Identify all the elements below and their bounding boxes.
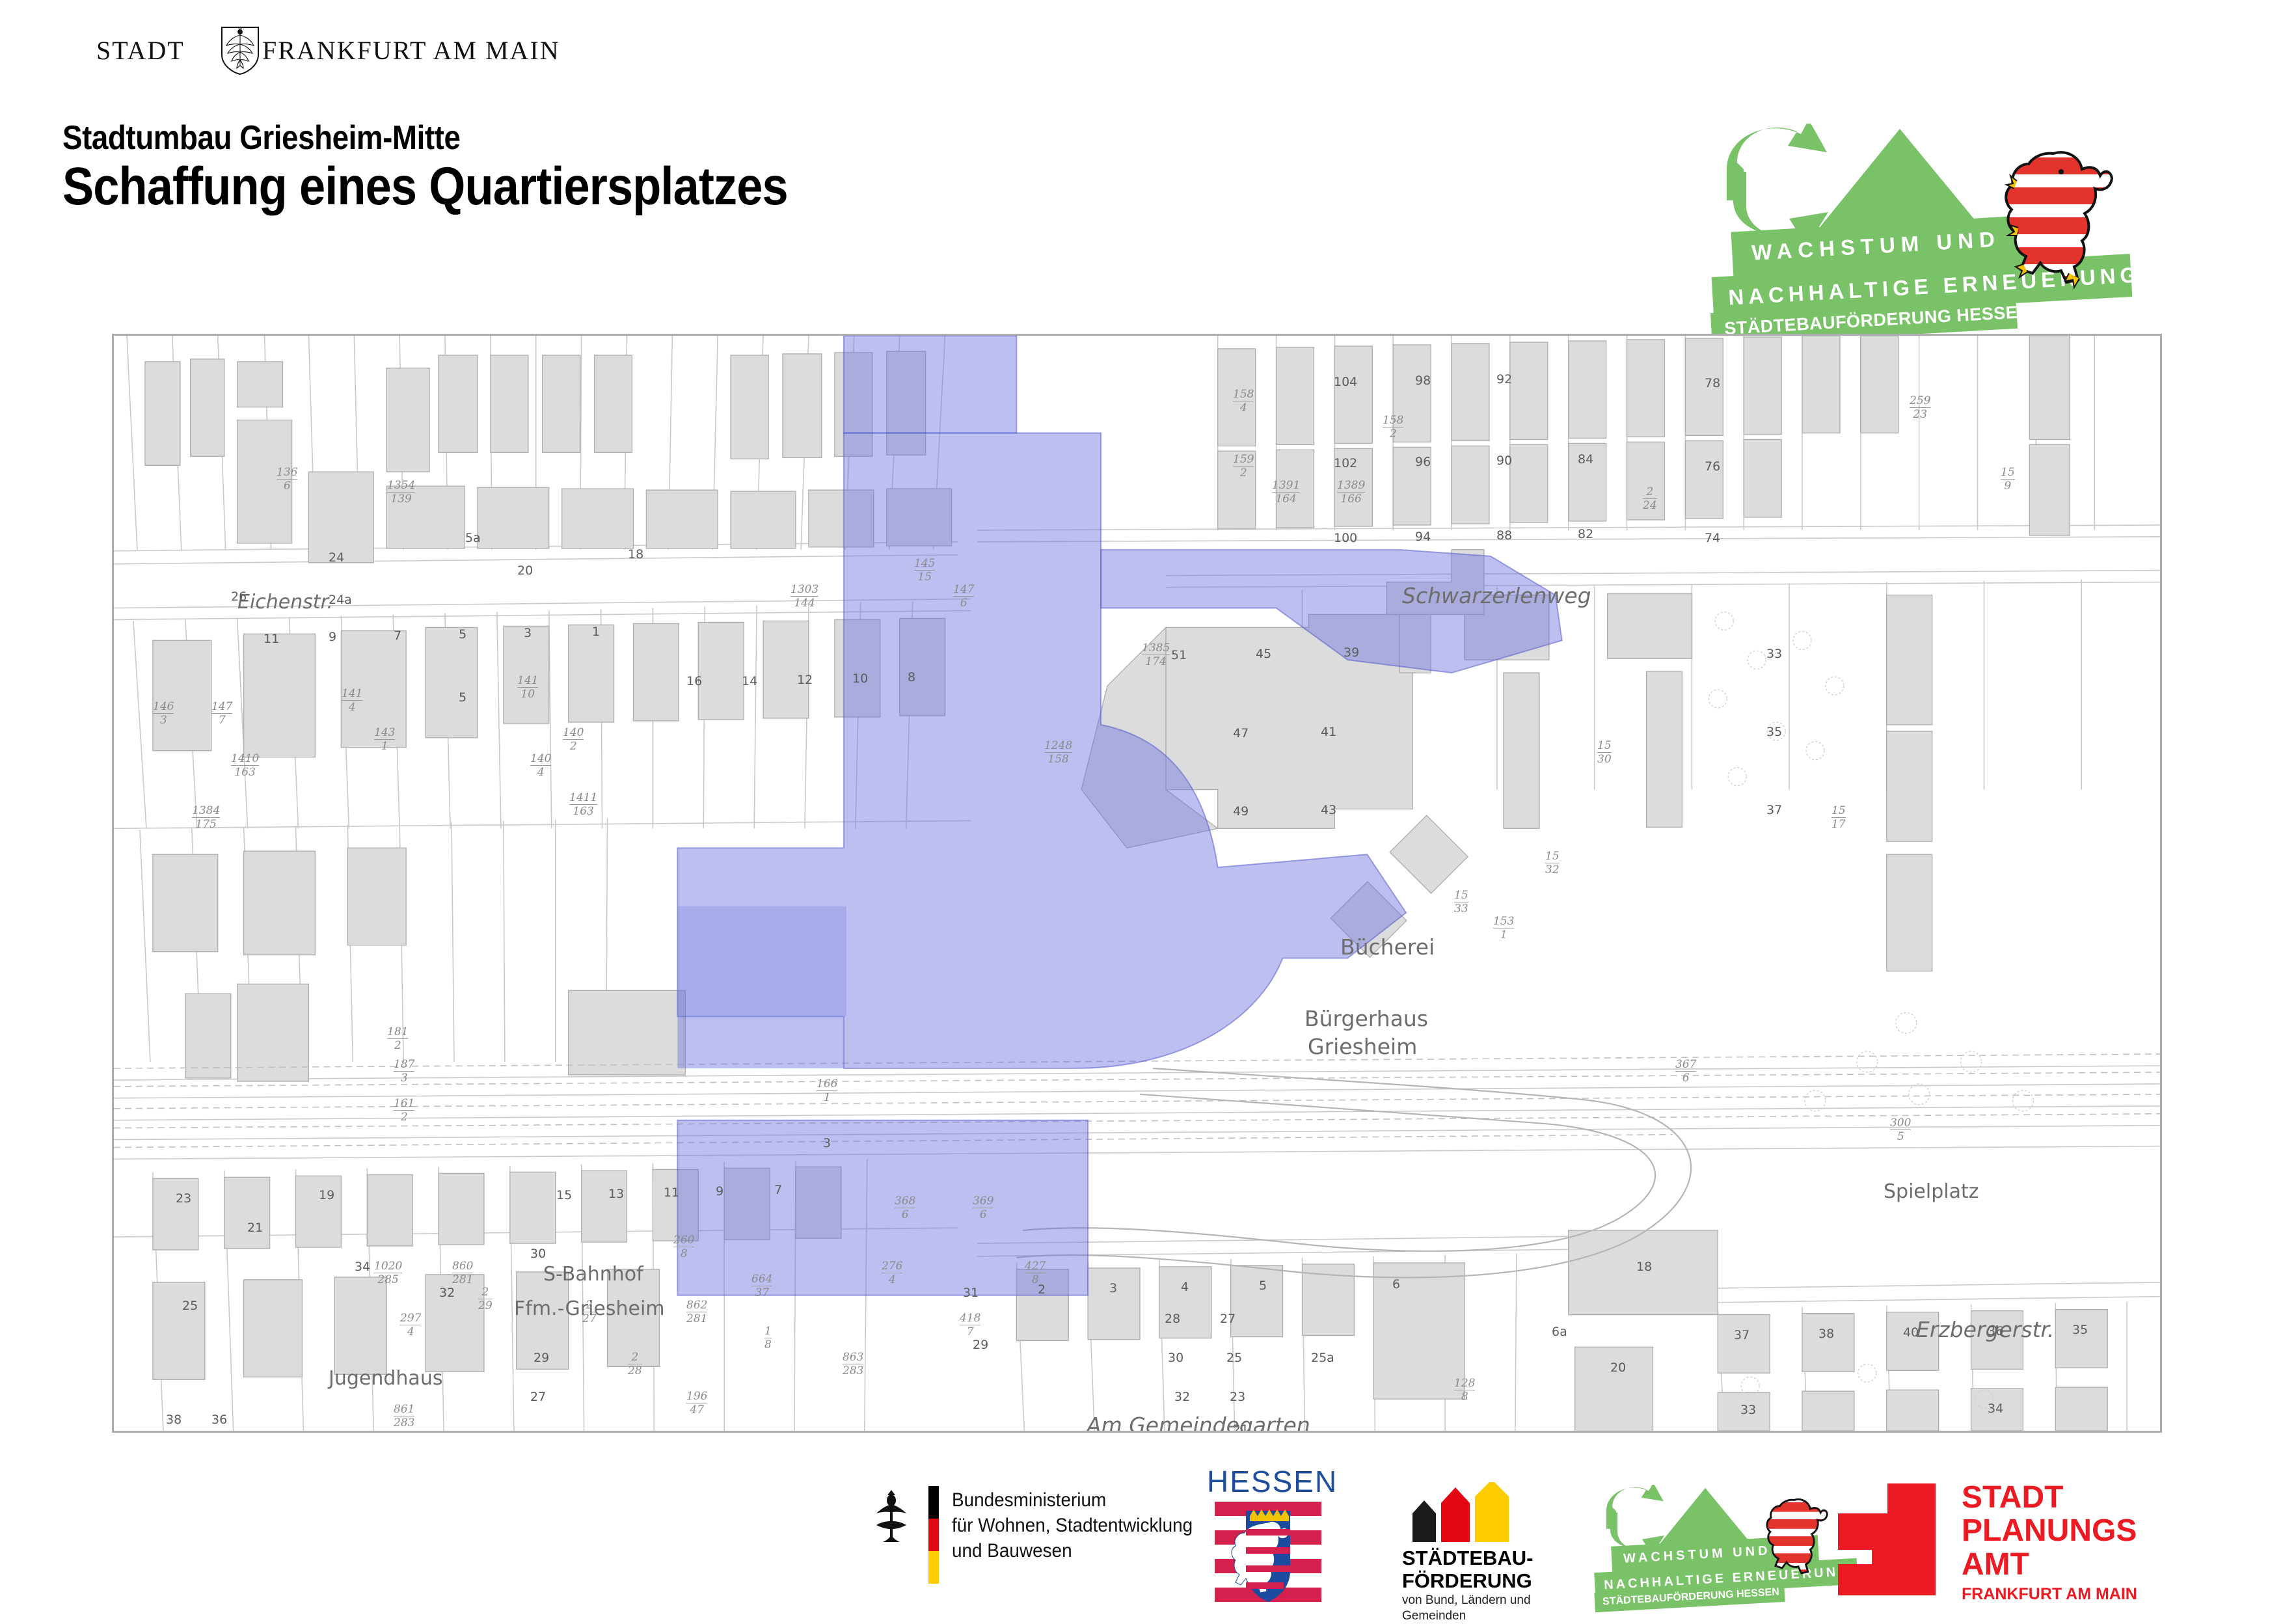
house-number: 49: [1233, 804, 1249, 819]
parcel-number: 1812: [387, 1025, 408, 1052]
parcel-number: 1531: [1493, 915, 1514, 941]
stf-sub2: Gemeinden: [1402, 1608, 1531, 1624]
house-number: 5a: [465, 531, 481, 545]
house-number: 74: [1705, 531, 1720, 545]
hessen-coat-of-arms-icon: [1209, 1499, 1327, 1608]
stf-line2: FÖRDERUNG: [1402, 1570, 1533, 1593]
hessen-lion-icon: [1993, 146, 2117, 295]
house-number: 16: [686, 674, 702, 688]
parcel-number: 1385174: [1142, 642, 1170, 668]
parcel-number: 1020285: [374, 1260, 402, 1286]
house-number: 21: [1233, 1422, 1249, 1433]
house-number: 20: [517, 563, 533, 578]
spa-line2: PLANUNGS: [1962, 1514, 2137, 1547]
house-number: 1: [592, 625, 600, 639]
house-number: 14: [742, 674, 757, 688]
place-label-jugendhaus: Jugendhaus: [329, 1367, 442, 1390]
house-number: 24: [329, 550, 344, 565]
parcel-number: 25923: [1910, 394, 1930, 421]
house-number: 31: [963, 1286, 979, 1300]
street-label-erzbergerstr: Erzbergerstr.: [1916, 1317, 2055, 1342]
parcel-number: 1414: [342, 687, 362, 714]
house-number: 33: [1740, 1403, 1756, 1417]
place-label-griesheim: Griesheim: [1308, 1034, 1417, 1059]
city-of-frankfurt-logo: STADT FRANKFURT AM MAIN: [96, 31, 513, 77]
house-number: 25: [182, 1299, 198, 1313]
stf-title: STÄDTEBAU- FÖRDERUNG: [1402, 1547, 1533, 1592]
stadtplanungsamt-mark-icon: [1838, 1483, 1936, 1595]
frankfurt-eagle-crest-icon: [220, 26, 260, 75]
street-label-eichenstr: Eichenstr.: [237, 591, 333, 614]
house-number: 34: [1207, 1429, 1223, 1433]
parcel-number: 1410163: [231, 752, 259, 779]
parcel-number: 3686: [895, 1195, 915, 1221]
house-number: 3: [524, 626, 532, 640]
parcel-number: 1530: [1597, 739, 1612, 766]
parcel-number: 1402: [563, 726, 584, 753]
house-number: 35: [2072, 1323, 2088, 1337]
parcel-number: 1404: [530, 752, 551, 779]
parcel-number: 14110: [517, 674, 538, 701]
parcel-number: 3696: [973, 1195, 993, 1221]
house-number: 100: [1334, 531, 1357, 545]
house-number: 9: [716, 1184, 723, 1198]
parcel-number: 1431: [374, 726, 395, 753]
house-number: 92: [1496, 372, 1512, 386]
place-label-buergerhaus: Bürgerhaus: [1304, 1006, 1428, 1031]
house-number: 5: [1259, 1279, 1267, 1293]
house-number: 20: [1610, 1360, 1626, 1375]
house-number: 18: [1636, 1260, 1652, 1274]
house-number: 33: [1766, 647, 1782, 661]
bmwsb-line1: Bundesministerium: [952, 1487, 1193, 1513]
parcel-number: 1532: [1545, 850, 1560, 876]
spa-line3: AMT: [1962, 1548, 2137, 1581]
house-number: 36: [211, 1413, 227, 1427]
house-number: 43: [1321, 803, 1336, 817]
cadastral-map[interactable]: Eichenstr. Schwarzerlenweg Erzbergerstr.…: [112, 334, 2162, 1433]
parcel-number: 14515: [914, 557, 935, 584]
house-number: 88: [1496, 528, 1512, 543]
place-label-spielplatz: Spielplatz: [1884, 1180, 1979, 1203]
house-number: 28: [1165, 1312, 1180, 1326]
parcel-number: 1384175: [192, 804, 220, 831]
city-logo-left-text: STADT: [96, 35, 185, 66]
house-number: 23: [1230, 1390, 1245, 1404]
german-flag-bar-icon: [928, 1486, 939, 1584]
street-label-schwarzerlenweg: Schwarzerlenweg: [1402, 583, 1591, 608]
house-number: 8: [908, 670, 915, 684]
house-number: 96: [1415, 455, 1431, 469]
parcel-number: 1476: [953, 583, 974, 610]
parcel-number: 66437: [751, 1273, 772, 1299]
parcel-number: 1288: [1454, 1377, 1475, 1403]
house-number: 24a: [329, 593, 352, 607]
parcel-number: 227: [582, 1299, 597, 1325]
house-number: 104: [1334, 375, 1357, 389]
parcel-number: 1389166: [1337, 479, 1365, 506]
parcel-number: 1533: [1454, 889, 1468, 915]
spa-line1: STADT: [1962, 1481, 2137, 1514]
bundesadler-icon: [869, 1487, 914, 1543]
parcel-number: 1303144: [790, 583, 818, 610]
house-number: 6: [1392, 1277, 1400, 1292]
house-number: 3: [1109, 1281, 1117, 1295]
house-number: 25a: [1311, 1351, 1334, 1365]
parcel-number: 1391164: [1272, 479, 1300, 506]
parcel-number: 18: [764, 1325, 772, 1351]
house-number: 13: [608, 1187, 624, 1201]
stf-subtitle: von Bund, Ländern und Gemeinden: [1402, 1593, 1531, 1624]
house-number: 26: [231, 589, 247, 604]
parcel-number: 862281: [686, 1299, 707, 1325]
page-title: Schaffung eines Quartiersplatzes: [62, 156, 788, 217]
house-number: 38: [1818, 1327, 1834, 1341]
spa-wordmark: STADT PLANUNGS AMT: [1962, 1481, 2137, 1581]
house-number: 34: [355, 1260, 370, 1274]
parcel-number: 229: [478, 1286, 493, 1312]
house-number: 29: [534, 1351, 549, 1365]
house-number: 6a: [1552, 1325, 1567, 1339]
parcel-number: 1411163: [569, 791, 597, 818]
parcel-number: 3005: [1890, 1116, 1911, 1143]
parcel-number: 1366: [277, 466, 297, 493]
house-number: 98: [1415, 373, 1431, 388]
page-header: STADT FRANKFURT AM MAIN Stadtumbau Gries…: [0, 0, 2283, 306]
house-number: 47: [1233, 726, 1249, 740]
parcel-number: 1612: [394, 1097, 414, 1124]
house-number: 76: [1705, 459, 1720, 474]
house-number: 102: [1334, 456, 1357, 470]
parcel-number: 1354139: [387, 479, 415, 506]
parcel-number: 2608: [673, 1234, 694, 1260]
house-number: 32: [1174, 1390, 1190, 1404]
house-number: 29: [973, 1338, 988, 1352]
house-number: 45: [1256, 647, 1271, 661]
house-number: 9: [329, 630, 336, 644]
house-number: 38: [166, 1413, 182, 1427]
street-label-am-gemeindegarten: Am Gemeindegarten: [1087, 1413, 1310, 1433]
stf-sub1: von Bund, Ländern und: [1402, 1593, 1531, 1608]
place-label-buecherei: Bücherei: [1340, 934, 1435, 960]
parcel-number: 1477: [211, 700, 232, 727]
parcel-number: 1592: [1233, 453, 1254, 480]
house-number: 27: [530, 1390, 546, 1404]
house-number: 11: [664, 1185, 679, 1200]
parcel-number: 860281: [452, 1260, 473, 1286]
page-subtitle: Stadtumbau Griesheim-Mitte: [62, 118, 460, 157]
house-number: 11: [263, 632, 279, 646]
hessen-lion-icon-small: [1760, 1495, 1830, 1581]
house-number: 41: [1321, 725, 1336, 739]
parcel-number: 1873: [394, 1058, 414, 1085]
parcel-number: 2764: [882, 1260, 902, 1286]
house-number: 36: [1988, 1324, 2003, 1338]
parcel-number: 861283: [394, 1403, 414, 1429]
parcel-number: 4278: [1025, 1260, 1046, 1286]
house-number: 94: [1415, 530, 1431, 544]
house-number: 90: [1496, 453, 1512, 468]
parcel-number: 224: [1643, 485, 1657, 512]
house-number: 3: [823, 1136, 831, 1150]
hessen-wordmark: HESSEN: [1207, 1464, 1331, 1499]
house-number: 78: [1705, 376, 1720, 390]
house-number: 7: [394, 629, 401, 643]
house-number: 82: [1578, 527, 1593, 541]
house-number: 30: [530, 1247, 546, 1261]
house-number: 7: [774, 1183, 782, 1197]
parcel-number: 19647: [686, 1390, 707, 1416]
house-number: 32: [439, 1286, 455, 1300]
house-number: 12: [797, 673, 813, 687]
parcel-number: 3676: [1675, 1058, 1696, 1085]
house-number: 35: [1766, 725, 1782, 739]
parcel-number: 1463: [153, 700, 174, 727]
house-number: 10: [852, 671, 868, 686]
house-number: 34: [1988, 1401, 2003, 1416]
map-canvas: [114, 336, 2160, 1431]
house-number: 84: [1578, 452, 1593, 467]
stf-line1: STÄDTEBAU-: [1402, 1547, 1533, 1570]
bmwsb-text: Bundesministerium für Wohnen, Stadtentwi…: [952, 1487, 1193, 1563]
parcel-number: 228: [628, 1351, 642, 1377]
house-number: 18: [628, 547, 643, 562]
house-number: 23: [176, 1191, 191, 1206]
house-number: 40: [1903, 1325, 1919, 1340]
wachstum-und-nachhaltige-erneuerung-logo: WACHSTUM UND NACHHALTIGE ERNEUERUNG STÄD…: [1718, 124, 2173, 312]
house-number: 37: [1766, 803, 1782, 817]
parcel-number: 159: [2001, 466, 2015, 493]
parcel-number: 4187: [960, 1312, 980, 1338]
house-number: 37: [1734, 1328, 1749, 1342]
bmwsb-line2: für Wohnen, Stadtentwicklung: [952, 1513, 1193, 1538]
house-number: 19: [319, 1188, 334, 1202]
house-number: 39: [1344, 645, 1359, 660]
place-label-s-bahnhof: S-Bahnhof: [543, 1263, 643, 1286]
parcel-number: 1661: [817, 1077, 837, 1104]
house-number: 25: [1226, 1351, 1242, 1365]
city-logo-right-text: FRANKFURT AM MAIN: [262, 35, 560, 66]
funding-logos-footer: Bundesministerium für Wohnen, Stadtentwi…: [0, 1469, 2283, 1614]
spa-city: FRANKFURT AM MAIN: [1962, 1585, 2137, 1604]
three-houses-icon: [1407, 1482, 1518, 1542]
house-number: 51: [1171, 648, 1187, 662]
house-number: 30: [1168, 1351, 1183, 1365]
house-number: 27: [1220, 1312, 1236, 1326]
hessen-logo: HESSEN: [1207, 1464, 1331, 1612]
parcel-number: 1517: [1831, 804, 1846, 831]
house-number: 4: [1181, 1280, 1189, 1294]
parcel-number: 1582: [1383, 414, 1403, 440]
parcel-number: 1248158: [1044, 739, 1072, 766]
house-number: 21: [247, 1221, 263, 1235]
parcel-number: 1584: [1233, 388, 1254, 414]
parcel-number: 863283: [843, 1351, 863, 1377]
house-number: 15: [556, 1188, 572, 1202]
house-number: 5: [459, 690, 466, 705]
bmwsb-line3: und Bauwesen: [952, 1538, 1193, 1563]
house-number: 5: [459, 627, 466, 642]
parcel-number: 2974: [400, 1312, 421, 1338]
